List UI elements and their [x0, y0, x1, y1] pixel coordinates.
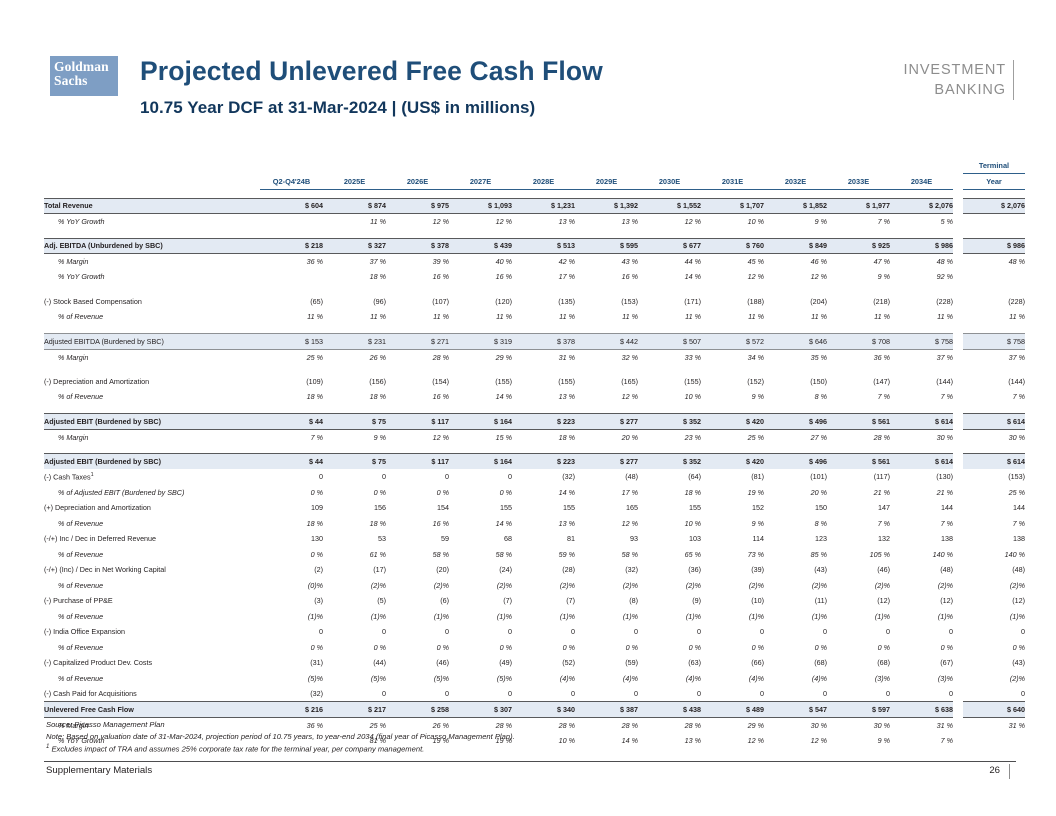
row-value: 61 %	[323, 547, 386, 563]
row-value: 7 %	[827, 389, 890, 405]
row-value: (155)	[512, 374, 575, 390]
column-gap	[953, 294, 963, 310]
row-value: $ 975	[386, 198, 449, 214]
header-blank-cell	[575, 158, 638, 174]
row-value: 9 %	[323, 429, 386, 445]
row-value: 17 %	[575, 485, 638, 501]
row-value: 59	[386, 531, 449, 547]
spacer-cell	[44, 285, 260, 294]
row-value: 18 %	[260, 516, 323, 532]
row-value: (12)	[890, 593, 953, 609]
row-value: 155	[449, 500, 512, 516]
row-value: 0	[764, 686, 827, 702]
row-value: 7 %	[260, 429, 323, 445]
row-value: 14 %	[512, 485, 575, 501]
row-value: $ 258	[386, 702, 449, 718]
spacer-cell	[638, 189, 701, 198]
table-row: (-) Stock Based Compensation(65)(96)(107…	[44, 294, 1025, 310]
row-value: (154)	[386, 374, 449, 390]
table-row: Adjusted EBITDA (Burdened by SBC)$ 153$ …	[44, 334, 1025, 350]
terminal-value: 48 %	[963, 254, 1025, 270]
row-value: (5)%	[323, 671, 386, 687]
row-label: Adjusted EBIT (Burdened by SBC)	[44, 414, 260, 430]
row-value: 25 %	[260, 349, 323, 365]
table-row: % of Revenue(0)%(2)%(2)%(2)%(2)%(2)%(2)%…	[44, 578, 1025, 594]
row-value: (1)%	[386, 609, 449, 625]
row-value: (8)	[575, 593, 638, 609]
row-value: 147	[827, 500, 890, 516]
spacer-cell	[323, 189, 386, 198]
row-value: 36 %	[260, 254, 323, 270]
spacer-cell	[323, 365, 386, 374]
row-value: 29 %	[449, 349, 512, 365]
row-value: (218)	[827, 294, 890, 310]
row-value: 0	[260, 624, 323, 640]
spacer-cell	[638, 365, 701, 374]
column-gap	[953, 158, 963, 174]
row-value: (32)	[512, 469, 575, 485]
row-value: 0	[323, 686, 386, 702]
projected-ufcf-table: TerminalQ2-Q4'24B2025E2026E2027E2028E202…	[44, 158, 1025, 748]
row-value: (11)	[764, 593, 827, 609]
spacer-cell	[827, 285, 890, 294]
row-value: 13 %	[575, 214, 638, 230]
row-value: (1)%	[575, 609, 638, 625]
row-value: 7 %	[890, 389, 953, 405]
spacer-cell	[386, 365, 449, 374]
row-value: 21 %	[827, 485, 890, 501]
spacer-cell	[575, 445, 638, 454]
row-value: (1)%	[512, 609, 575, 625]
row-value: $ 925	[827, 238, 890, 254]
terminal-value	[963, 214, 1025, 230]
table-row: % of Revenue(5)%(5)%(5)%(5)%(4)%(4)%(4)%…	[44, 671, 1025, 687]
row-value: (2)%	[512, 578, 575, 594]
column-gap	[953, 349, 963, 365]
column-gap	[953, 516, 963, 532]
row-value: 0	[575, 686, 638, 702]
row-value: (65)	[260, 294, 323, 310]
row-value: 40 %	[449, 254, 512, 270]
terminal-value	[963, 269, 1025, 285]
row-value: 12 %	[638, 214, 701, 230]
column-gap	[953, 174, 963, 190]
row-value: (1)%	[323, 609, 386, 625]
row-label: Adjusted EBIT (Burdened by SBC)	[44, 454, 260, 470]
spacer-cell	[44, 229, 260, 238]
row-value: (2)%	[638, 578, 701, 594]
row-value: 0	[890, 686, 953, 702]
terminal-value: $ 614	[963, 414, 1025, 430]
row-value: 15 %	[449, 429, 512, 445]
row-value: 0 %	[386, 640, 449, 656]
page-title: Projected Unlevered Free Cash Flow	[140, 56, 603, 86]
row-value: 9 %	[701, 389, 764, 405]
spacer-cell	[953, 229, 963, 238]
row-value: (165)	[575, 374, 638, 390]
row-value: (171)	[638, 294, 701, 310]
terminal-value: $ 640	[963, 702, 1025, 718]
column-header-1: 2025E	[323, 174, 386, 190]
row-value: $ 378	[512, 334, 575, 350]
row-value: 12 %	[764, 269, 827, 285]
row-label: (-) Purchase of PP&E	[44, 593, 260, 609]
row-value: $ 387	[575, 702, 638, 718]
goldman-sachs-logo: Goldman Sachs	[50, 56, 118, 96]
row-value: 109	[260, 500, 323, 516]
spacer-cell	[512, 325, 575, 334]
row-value: 0 %	[260, 485, 323, 501]
table-body: Total Revenue$ 604$ 874$ 975$ 1,093$ 1,2…	[44, 198, 1025, 748]
row-value: (20)	[386, 562, 449, 578]
spacer-cell	[386, 405, 449, 414]
row-value: 0	[638, 624, 701, 640]
column-gap	[953, 609, 963, 625]
spacer-cell	[512, 285, 575, 294]
row-value: $ 708	[827, 334, 890, 350]
row-value: 12 %	[386, 429, 449, 445]
row-value: 103	[638, 531, 701, 547]
row-value: (153)	[575, 294, 638, 310]
terminal-value: $ 2,076	[963, 198, 1025, 214]
spacer-cell	[575, 405, 638, 414]
row-value: 26 %	[323, 349, 386, 365]
section-spacer-row	[44, 285, 1025, 294]
header-blank-cell	[260, 158, 323, 174]
row-value: $ 44	[260, 414, 323, 430]
row-value: 28 %	[386, 349, 449, 365]
terminal-value: 144	[963, 500, 1025, 516]
terminal-value: (2)%	[963, 578, 1025, 594]
terminal-value: (144)	[963, 374, 1025, 390]
row-value: (2)%	[890, 578, 953, 594]
row-value: 92 %	[890, 269, 953, 285]
row-value: (1)%	[701, 609, 764, 625]
row-value: (2)%	[701, 578, 764, 594]
row-value: 11 %	[764, 309, 827, 325]
terminal-value: (1)%	[963, 609, 1025, 625]
column-gap	[953, 238, 963, 254]
row-value: 13 %	[512, 214, 575, 230]
row-label: % of Adjusted EBIT (Burdened by SBC)	[44, 485, 260, 501]
row-value: 14 %	[449, 389, 512, 405]
spacer-cell	[827, 445, 890, 454]
row-value: $ 1,231	[512, 198, 575, 214]
row-value: (135)	[512, 294, 575, 310]
row-value: (48)	[890, 562, 953, 578]
row-value: 8 %	[764, 516, 827, 532]
row-value: $ 307	[449, 702, 512, 718]
column-header-3: 2027E	[449, 174, 512, 190]
row-value: 12 %	[701, 269, 764, 285]
row-value: 28 %	[827, 429, 890, 445]
terminal-value	[963, 733, 1025, 749]
row-value: 58 %	[575, 547, 638, 563]
row-value: 140 %	[890, 547, 953, 563]
row-label: % Margin	[44, 429, 260, 445]
column-gap	[953, 214, 963, 230]
terminal-value: 25 %	[963, 485, 1025, 501]
terminal-value: 37 %	[963, 349, 1025, 365]
row-value: (2)%	[449, 578, 512, 594]
row-value: 7 %	[890, 516, 953, 532]
row-value: (5)%	[386, 671, 449, 687]
row-value: 138	[890, 531, 953, 547]
row-value: 16 %	[449, 269, 512, 285]
row-value: 48 %	[890, 254, 953, 270]
row-label: (-/+) (Inc) / Dec in Net Working Capital	[44, 562, 260, 578]
row-value: 18 %	[323, 516, 386, 532]
spacer-cell	[323, 285, 386, 294]
table-row: (-) Cash Paid for Acquisitions(32)000000…	[44, 686, 1025, 702]
row-value: $ 378	[386, 238, 449, 254]
row-value: 11 %	[323, 214, 386, 230]
row-value: $ 420	[701, 414, 764, 430]
spacer-cell	[963, 405, 1025, 414]
row-value: 0 %	[449, 485, 512, 501]
row-value: 0	[449, 686, 512, 702]
table-header-row-years: Q2-Q4'24B2025E2026E2027E2028E2029E2030E2…	[44, 174, 1025, 190]
spacer-cell	[953, 189, 963, 198]
table-row: Adjusted EBIT (Burdened by SBC)$ 44$ 75$…	[44, 454, 1025, 470]
row-value: (155)	[638, 374, 701, 390]
column-header-5: 2029E	[575, 174, 638, 190]
spacer-cell	[953, 285, 963, 294]
row-value: 14 %	[638, 269, 701, 285]
row-value: $ 352	[638, 414, 701, 430]
table-row: Total Revenue$ 604$ 874$ 975$ 1,093$ 1,2…	[44, 198, 1025, 214]
spacer-cell	[890, 445, 953, 454]
column-gap	[953, 309, 963, 325]
column-header-9: 2033E	[827, 174, 890, 190]
row-value: (2)%	[323, 578, 386, 594]
row-value: 0 %	[827, 640, 890, 656]
row-value: $ 117	[386, 414, 449, 430]
spacer-cell	[386, 189, 449, 198]
row-value: (32)	[260, 686, 323, 702]
row-value: (1)%	[827, 609, 890, 625]
row-value: $ 758	[890, 334, 953, 350]
header-spacer	[44, 174, 260, 190]
spacer-cell	[764, 405, 827, 414]
row-value: (130)	[890, 469, 953, 485]
spacer-cell	[323, 325, 386, 334]
row-value: (109)	[260, 374, 323, 390]
row-value: (12)	[827, 593, 890, 609]
row-label: (-) India Office Expansion	[44, 624, 260, 640]
row-value: (31)	[260, 655, 323, 671]
row-value: $ 614	[890, 414, 953, 430]
row-label: % Margin	[44, 349, 260, 365]
row-value: (2)%	[764, 578, 827, 594]
spacer-cell	[890, 229, 953, 238]
row-value: (6)	[386, 593, 449, 609]
table-row: (+) Depreciation and Amortization1091561…	[44, 500, 1025, 516]
spacer-cell	[827, 325, 890, 334]
row-value: $ 677	[638, 238, 701, 254]
row-value: (2)%	[386, 578, 449, 594]
table-row: (-/+) Inc / Dec in Deferred Revenue13053…	[44, 531, 1025, 547]
row-value: 16 %	[386, 269, 449, 285]
row-value: $ 1,852	[764, 198, 827, 214]
header-blank-cell	[512, 158, 575, 174]
table-row: % Margin36 %37 %39 %40 %42 %43 %44 %45 %…	[44, 254, 1025, 270]
row-value: 130	[260, 531, 323, 547]
table-row: % of Revenue0 %61 %58 %58 %59 %58 %65 %7…	[44, 547, 1025, 563]
row-value: $ 604	[260, 198, 323, 214]
table-row: % Margin7 %9 %12 %15 %18 %20 %23 %25 %27…	[44, 429, 1025, 445]
spacer-cell	[963, 445, 1025, 454]
row-value: (68)	[764, 655, 827, 671]
spacer-cell	[963, 325, 1025, 334]
row-value: (2)%	[827, 578, 890, 594]
row-value: 11 %	[638, 309, 701, 325]
spacer-cell	[512, 365, 575, 374]
row-value: $ 340	[512, 702, 575, 718]
row-label: Adj. EBITDA (Unburdened by SBC)	[44, 238, 260, 254]
row-value: 20 %	[764, 485, 827, 501]
row-value: 12 %	[575, 389, 638, 405]
row-value: 93	[575, 531, 638, 547]
spacer-cell	[449, 189, 512, 198]
column-gap	[953, 485, 963, 501]
column-gap	[953, 733, 963, 749]
row-value: (36)	[638, 562, 701, 578]
table-row: Unlevered Free Cash Flow$ 216$ 217$ 258$…	[44, 702, 1025, 718]
column-gap	[953, 702, 963, 718]
section-spacer-row	[44, 405, 1025, 414]
spacer-cell	[386, 445, 449, 454]
row-value: 0	[701, 686, 764, 702]
header-blank-cell	[323, 158, 386, 174]
row-value: (7)	[449, 593, 512, 609]
row-value: $ 164	[449, 414, 512, 430]
row-value: 11 %	[701, 309, 764, 325]
table-row: % of Revenue18 %18 %16 %14 %13 %12 %10 %…	[44, 389, 1025, 405]
spacer-cell	[953, 405, 963, 414]
spacer-cell	[260, 365, 323, 374]
row-value: $ 1,093	[449, 198, 512, 214]
row-value: $ 760	[701, 238, 764, 254]
row-value: 152	[701, 500, 764, 516]
row-value: 37 %	[323, 254, 386, 270]
table-row: % YoY Growth11 %12 %12 %13 %13 %12 %10 %…	[44, 214, 1025, 230]
spacer-cell	[827, 229, 890, 238]
row-value: $ 614	[890, 454, 953, 470]
row-value: 85 %	[764, 547, 827, 563]
row-value: 18 %	[323, 269, 386, 285]
spacer-cell	[827, 405, 890, 414]
row-value: 44 %	[638, 254, 701, 270]
row-value: 105 %	[827, 547, 890, 563]
source-note: Source: Picasso Management Plan	[46, 719, 946, 731]
column-gap	[953, 389, 963, 405]
logo-line-1: Goldman	[54, 60, 118, 74]
row-label: % Margin	[44, 254, 260, 270]
footer-rule-accent	[1009, 764, 1010, 779]
table-row: (-) Cash Taxes10000(32)(48)(64)(81)(101)…	[44, 469, 1025, 485]
row-value: 10 %	[638, 516, 701, 532]
row-value: (0)%	[260, 578, 323, 594]
row-value: $ 561	[827, 454, 890, 470]
table-row: % of Revenue18 %18 %16 %14 %13 %12 %10 %…	[44, 516, 1025, 532]
row-value: $ 986	[890, 238, 953, 254]
column-gap	[953, 547, 963, 563]
row-value: 155	[638, 500, 701, 516]
row-value: 17 %	[512, 269, 575, 285]
row-value: 0	[575, 624, 638, 640]
row-value: 0 %	[449, 640, 512, 656]
column-gap	[953, 454, 963, 470]
row-value: 10 %	[701, 214, 764, 230]
row-value: 155	[512, 500, 575, 516]
terminal-value: (48)	[963, 562, 1025, 578]
spacer-cell	[638, 229, 701, 238]
column-gap	[953, 198, 963, 214]
row-label: (-/+) Inc / Dec in Deferred Revenue	[44, 531, 260, 547]
row-value: 12 %	[449, 214, 512, 230]
row-value: 0 %	[260, 640, 323, 656]
row-value: $ 507	[638, 334, 701, 350]
row-value: $ 352	[638, 454, 701, 470]
row-value: 0 %	[512, 640, 575, 656]
row-value: 16 %	[386, 516, 449, 532]
row-value: $ 1,707	[701, 198, 764, 214]
table-row: (-) India Office Expansion000000000000	[44, 624, 1025, 640]
table-header-group: TerminalQ2-Q4'24B2025E2026E2027E2028E202…	[44, 158, 1025, 198]
column-gap	[953, 686, 963, 702]
row-value: $ 849	[764, 238, 827, 254]
column-gap	[953, 717, 963, 733]
row-value: $ 595	[575, 238, 638, 254]
row-value: 65 %	[638, 547, 701, 563]
row-value: 0	[449, 624, 512, 640]
title-block: Projected Unlevered Free Cash Flow 10.75…	[140, 56, 603, 119]
row-value: 0 %	[638, 640, 701, 656]
column-header-0: Q2-Q4'24B	[260, 174, 323, 190]
spacer-cell	[44, 325, 260, 334]
terminal-value: 7 %	[963, 516, 1025, 532]
spacer-cell	[764, 229, 827, 238]
spacer-cell	[386, 229, 449, 238]
row-value: $ 489	[701, 702, 764, 718]
row-value: (2)	[260, 562, 323, 578]
row-value: (1)%	[638, 609, 701, 625]
row-value: $ 1,392	[575, 198, 638, 214]
row-value: 0 %	[701, 640, 764, 656]
row-value: 31 %	[512, 349, 575, 365]
row-value: (188)	[701, 294, 764, 310]
column-gap	[953, 334, 963, 350]
row-label: Unlevered Free Cash Flow	[44, 702, 260, 718]
column-gap	[953, 671, 963, 687]
row-value: 7 %	[827, 516, 890, 532]
row-value: $ 1,552	[638, 198, 701, 214]
row-value: $ 223	[512, 454, 575, 470]
row-value: 12 %	[386, 214, 449, 230]
spacer-cell	[638, 285, 701, 294]
row-value: (147)	[827, 374, 890, 390]
row-value: (67)	[890, 655, 953, 671]
row-value: 144	[890, 500, 953, 516]
spacer-cell	[701, 229, 764, 238]
column-header-7: 2031E	[701, 174, 764, 190]
division-line-1: INVESTMENT	[904, 60, 1006, 80]
row-value: 11 %	[386, 309, 449, 325]
row-value: (3)%	[890, 671, 953, 687]
row-value: (155)	[449, 374, 512, 390]
financial-table-wrapper: TerminalQ2-Q4'24B2025E2026E2027E2028E202…	[44, 158, 1016, 748]
